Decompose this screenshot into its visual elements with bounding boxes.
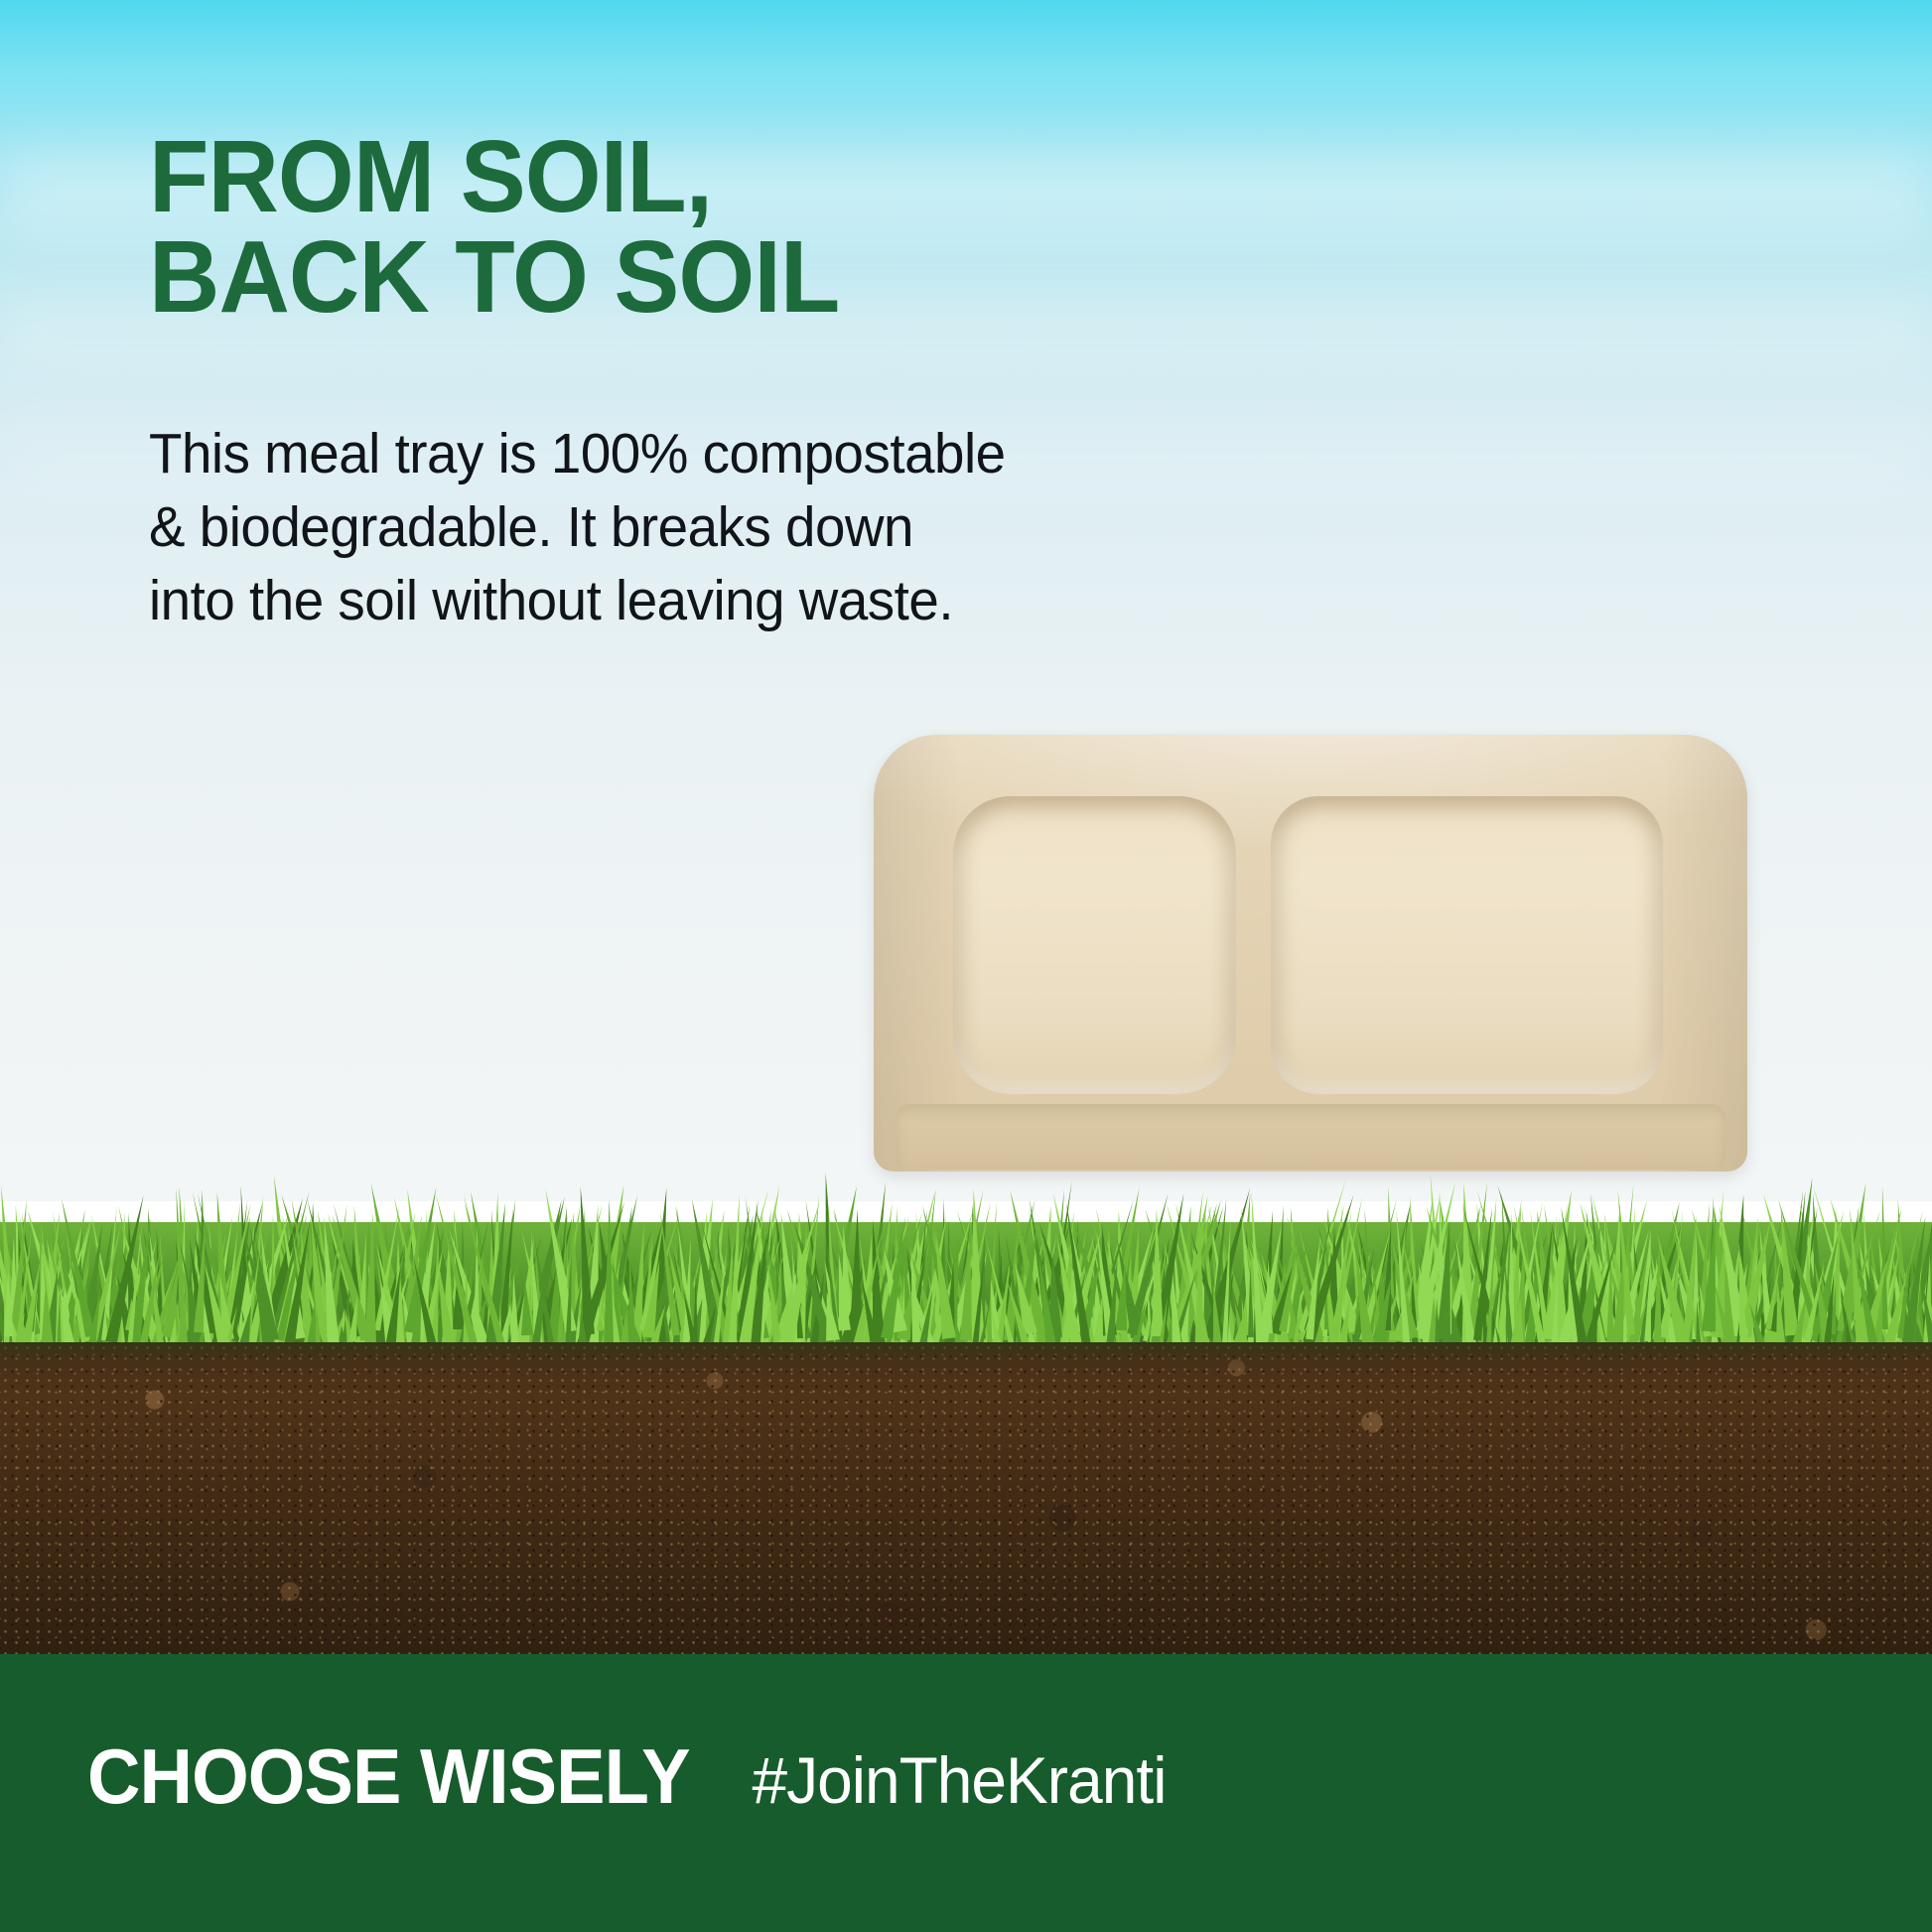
footer-band: CHOOSE WISELY #JoinTheKranti ECO ECO kra… bbox=[0, 1654, 1932, 1932]
footer-text-group: CHOOSE WISELY #JoinTheKranti bbox=[71, 1731, 1173, 1822]
grass-blade bbox=[1194, 1208, 1205, 1360]
meal-tray-image bbox=[874, 735, 1747, 1201]
tray-compartment-left bbox=[953, 796, 1236, 1094]
grass-blade bbox=[519, 1281, 533, 1335]
grass-blade bbox=[1265, 1258, 1274, 1333]
poster-canvas: FROM SOIL, BACK TO SOIL This meal tray i… bbox=[0, 0, 1932, 1932]
cta-label: CHOOSE WISELY bbox=[87, 1731, 690, 1822]
tray-body bbox=[874, 735, 1747, 1172]
grass-blade bbox=[3, 1271, 14, 1336]
page-title: FROM SOIL, BACK TO SOIL bbox=[149, 127, 839, 328]
grass-blades bbox=[0, 1138, 1932, 1371]
hashtag-label: #JoinTheKranti bbox=[752, 1742, 1166, 1818]
tray-compartment-right bbox=[1271, 796, 1663, 1094]
soil-top-edge bbox=[0, 1342, 1932, 1382]
grass-layer bbox=[0, 1138, 1932, 1371]
grass-blade bbox=[1606, 1253, 1614, 1347]
grass-blade bbox=[364, 1213, 378, 1346]
grass-blade bbox=[604, 1198, 615, 1345]
soil-grain-texture bbox=[0, 1342, 1932, 1662]
page-subtitle: This meal tray is 100% compostable & bio… bbox=[149, 417, 1006, 637]
soil-layer bbox=[0, 1342, 1932, 1662]
